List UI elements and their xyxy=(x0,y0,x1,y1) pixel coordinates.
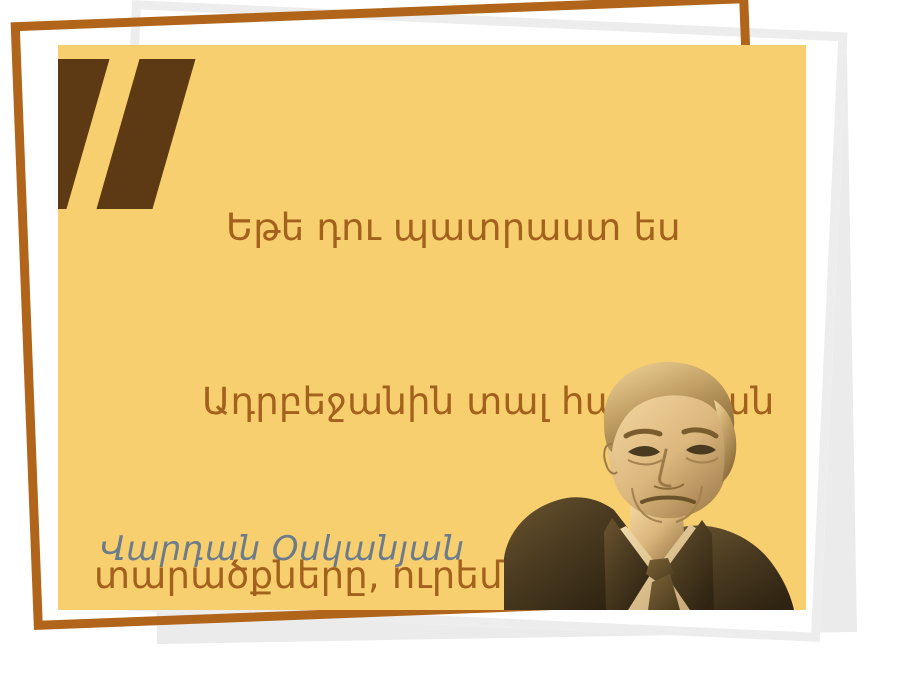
portrait-photo xyxy=(502,360,798,610)
quote-slide: Եթե դու պատրաստ ես Ադրբեջանին տալ հայկակ… xyxy=(0,0,900,677)
quote-line: Եթե դու պատրաստ ես xyxy=(94,199,794,257)
portrait-illustration xyxy=(502,360,798,610)
quote-card: Եթե դու պատրաստ ես Ադրբեջանին տալ հայկակ… xyxy=(58,45,806,610)
quote-attribution: Վարդան Օսկանյան xyxy=(100,529,464,569)
